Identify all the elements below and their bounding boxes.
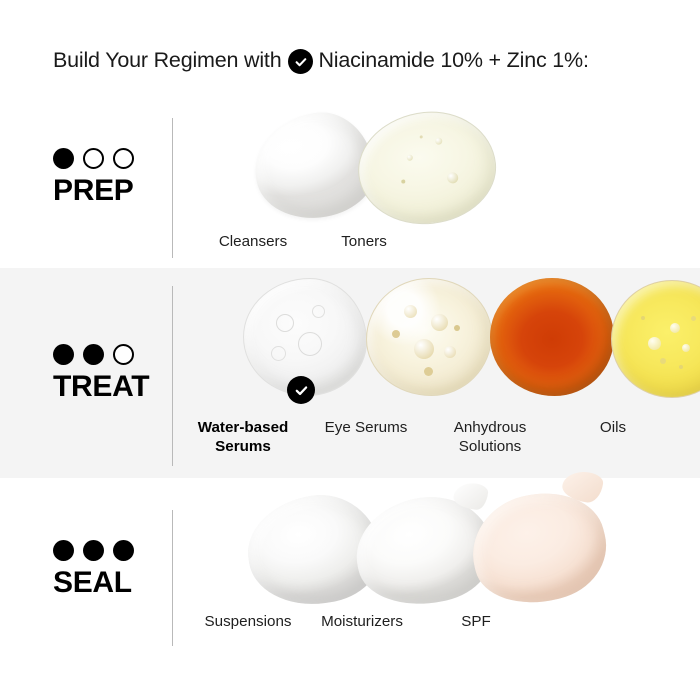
stage-seal-label: SEAL [53, 568, 165, 598]
product-label: Moisturizers [321, 612, 403, 631]
product-label: Toners [341, 232, 387, 251]
product-item-anhydrous-solutions[interactable]: Anhydrous Solutions [428, 278, 552, 457]
progress-dot-filled [53, 540, 74, 561]
progress-dot-filled [113, 540, 134, 561]
stage-treat: TREAT [53, 344, 165, 402]
stage-prep-items: Cleansers Toners [190, 108, 424, 251]
stage-treat-items: Water-based Serums Eye Serums [182, 278, 674, 457]
oil-swatch [611, 280, 700, 398]
progress-dot-empty [113, 148, 134, 169]
stage-seal: SEAL [53, 540, 165, 598]
stage-seal-divider [172, 510, 173, 646]
stage-prep-divider [172, 118, 173, 258]
progress-dot-empty [83, 148, 104, 169]
stage-row-prep: PREP Cleansers [0, 0, 700, 268]
stage-seal-progress-dots [53, 540, 165, 561]
stage-treat-progress-dots [53, 344, 165, 365]
stage-prep: PREP [53, 148, 165, 206]
stage-treat-label: TREAT [53, 372, 165, 402]
product-label: Water-based Serums [198, 418, 289, 457]
product-item-suspensions[interactable]: Suspensions [186, 488, 310, 631]
stage-row-seal: SEAL Suspensions Moisturizers [0, 478, 700, 700]
product-item-cleansers[interactable]: Cleansers [190, 108, 316, 251]
product-item-moisturizers[interactable]: Moisturizers [304, 488, 420, 631]
stage-seal-items: Suspensions Moisturizers SPF [186, 488, 536, 631]
product-label: Cleansers [219, 232, 287, 251]
product-label: Oils [600, 418, 626, 437]
product-label: SPF [461, 612, 491, 631]
progress-dot-filled [53, 148, 74, 169]
stage-treat-divider [172, 286, 173, 466]
product-item-toners[interactable]: Toners [304, 108, 424, 251]
product-item-oils[interactable]: Oils [552, 278, 674, 437]
stage-prep-progress-dots [53, 148, 165, 169]
product-label: Anhydrous Solutions [454, 418, 527, 457]
progress-dot-filled [83, 540, 104, 561]
progress-dot-filled [53, 344, 74, 365]
product-label: Suspensions [205, 612, 292, 631]
product-item-spf[interactable]: SPF [416, 488, 536, 631]
progress-dot-empty [113, 344, 134, 365]
selected-check-icon [287, 376, 315, 404]
product-item-eye-serums[interactable]: Eye Serums [304, 278, 428, 437]
stage-prep-label: PREP [53, 176, 165, 206]
spf-swatch [461, 479, 617, 616]
progress-dot-filled [83, 344, 104, 365]
toner-swatch [353, 105, 502, 231]
product-item-water-based-serums[interactable]: Water-based Serums [182, 278, 304, 457]
regimen-infographic: Build Your Regimen with Niacinamide 10% … [0, 0, 700, 700]
product-label: Eye Serums [325, 418, 408, 437]
stage-row-treat: TREAT [0, 268, 700, 478]
